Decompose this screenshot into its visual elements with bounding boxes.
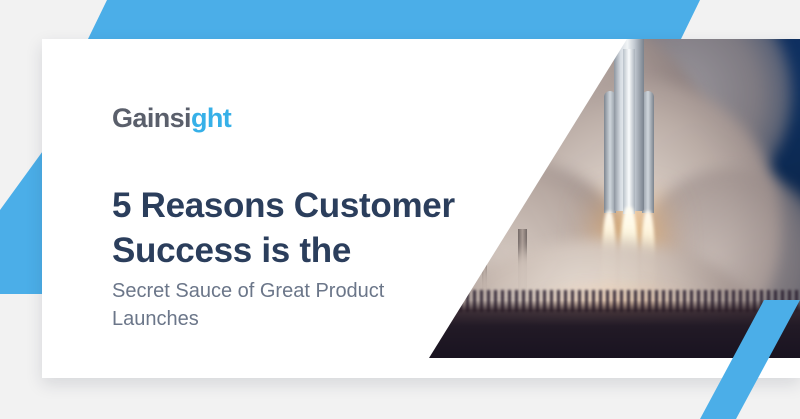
- rocket-core-stage: [623, 49, 635, 214]
- ground-horizon: [382, 300, 800, 358]
- banner-stage: Gainsight 5 Reasons Customer Success is …: [0, 0, 800, 419]
- blue-parallelogram-top-icon: [0, 0, 700, 39]
- logo-text-dark: Gainsi: [112, 103, 191, 133]
- logo-text-light: ght: [191, 103, 231, 133]
- banner-card: Gainsight 5 Reasons Customer Success is …: [42, 39, 800, 378]
- gainsight-logo[interactable]: Gainsight: [112, 105, 231, 132]
- page-title: 5 Reasons Customer Success is the: [112, 184, 532, 274]
- page-subtitle: Secret Sauce of Great Product Launches: [112, 277, 442, 334]
